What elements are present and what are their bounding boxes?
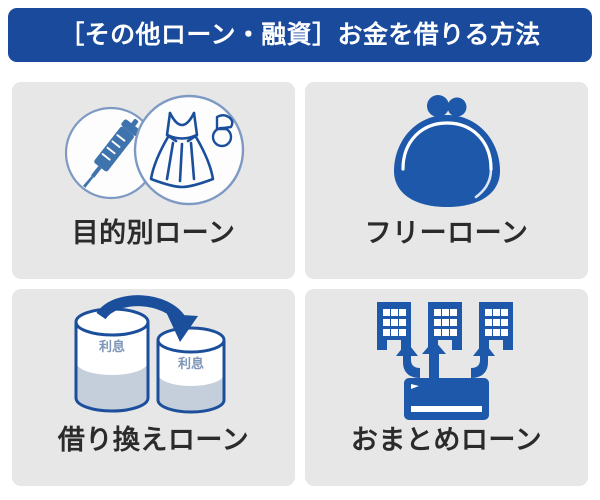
card-label-karikae-loan: 借り換えローン (58, 427, 249, 454)
card-art-free-loan (305, 82, 588, 220)
card-art-omatome-loan (305, 289, 588, 427)
building-icon-left (377, 302, 411, 350)
up-arrow-icon-right (471, 342, 495, 378)
refinance-illustration: 利息 利息 (54, 294, 254, 426)
card-art-karikae-loan: 利息 利息 (12, 289, 295, 427)
cylinder-label-left: 利息 (98, 339, 124, 354)
consolidation-illustration (367, 294, 527, 426)
card-label-omatome-loan: おまとめローン (351, 427, 542, 454)
cylinder-icon-left: 利息 (76, 309, 148, 411)
free-loan-illustration (372, 89, 522, 217)
up-arrow-icon-center (422, 340, 446, 378)
card-mokutekibetsu-loan[interactable]: 目的別ローン (12, 82, 295, 279)
loan-types-infographic: ［その他ローン・融資］お金を借りる方法 (0, 0, 600, 500)
coin-purse-icon (394, 95, 500, 207)
card-label-mokutekibetsu-loan: 目的別ローン (72, 220, 236, 247)
up-arrow-icon-left (396, 342, 420, 378)
cylinder-icon-right: 利息 (158, 328, 224, 412)
card-art-mokutekibetsu (12, 82, 295, 220)
purpose-loan-illustration (39, 87, 269, 219)
dress-circle (135, 96, 243, 204)
credit-card-icon (404, 378, 489, 420)
card-omatome-loan[interactable]: おまとめローン (305, 289, 588, 486)
card-free-loan[interactable]: フリーローン (305, 82, 588, 279)
page-title: ［その他ローン・融資］お金を借りる方法 (59, 23, 540, 48)
header-banner: ［その他ローン・融資］お金を借りる方法 (8, 8, 592, 62)
card-label-free-loan: フリーローン (365, 220, 529, 247)
card-karikae-loan[interactable]: 利息 利息 借り換 (12, 289, 295, 486)
cylinder-label-right: 利息 (177, 356, 203, 371)
card-grid: 目的別ローン (12, 82, 588, 486)
